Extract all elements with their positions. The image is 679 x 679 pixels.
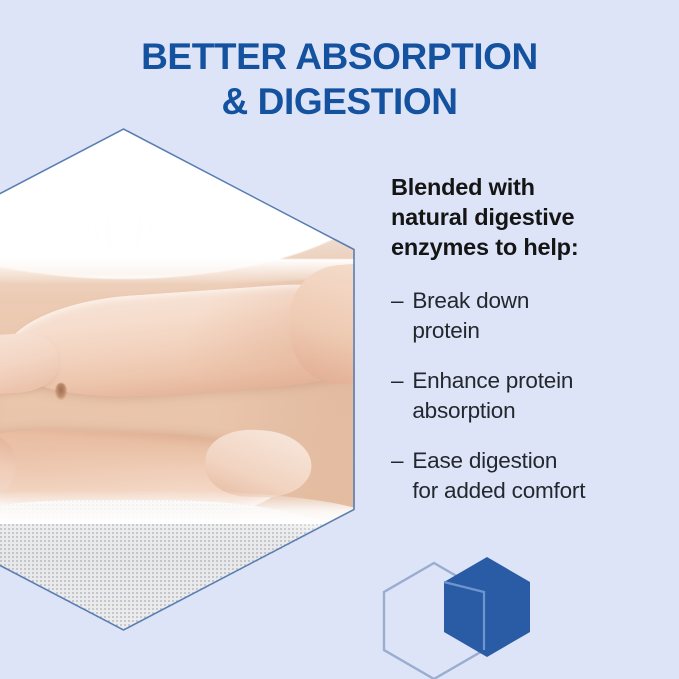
abdomen-photo <box>0 128 355 631</box>
list-item-line: protein <box>412 316 659 346</box>
list-item-text: Ease digestion for added comfort <box>412 446 659 506</box>
photo-bottom-garment <box>0 500 355 631</box>
benefits-copy-block: Blended with natural digestive enzymes t… <box>391 172 659 506</box>
subheading-line-3: enzymes to help: <box>391 232 659 262</box>
page-title-line-1: BETTER ABSORPTION <box>0 34 679 79</box>
list-item-line: Enhance protein <box>412 366 659 396</box>
promo-banner: BETTER ABSORPTION & DIGESTION Blended wi… <box>0 0 679 679</box>
solid-hexagon-icon <box>444 557 530 657</box>
list-item-text: Enhance protein absorption <box>412 366 659 426</box>
list-item: – Enhance protein absorption <box>391 366 659 426</box>
page-title: BETTER ABSORPTION & DIGESTION <box>0 34 679 124</box>
list-item-line: for added comfort <box>412 476 659 506</box>
list-item: – Break down protein <box>391 286 659 346</box>
subheading-line-1: Blended with <box>391 172 659 202</box>
hexagon-logo-mark <box>378 551 538 679</box>
list-item-line: Break down <box>412 286 659 316</box>
list-item-line: absorption <box>412 396 659 426</box>
benefits-list: – Break down protein – Enhance protein a… <box>391 286 659 506</box>
subheading: Blended with natural digestive enzymes t… <box>391 172 659 262</box>
list-item: – Ease digestion for added comfort <box>391 446 659 506</box>
page-title-line-2: & DIGESTION <box>0 79 679 124</box>
list-item-line: Ease digestion <box>412 446 659 476</box>
subheading-line-2: natural digestive <box>391 202 659 232</box>
bullet-dash-icon: – <box>391 446 403 506</box>
list-item-text: Break down protein <box>412 286 659 346</box>
photo-navel <box>55 383 67 400</box>
bullet-dash-icon: – <box>391 286 403 346</box>
bullet-dash-icon: – <box>391 366 403 426</box>
